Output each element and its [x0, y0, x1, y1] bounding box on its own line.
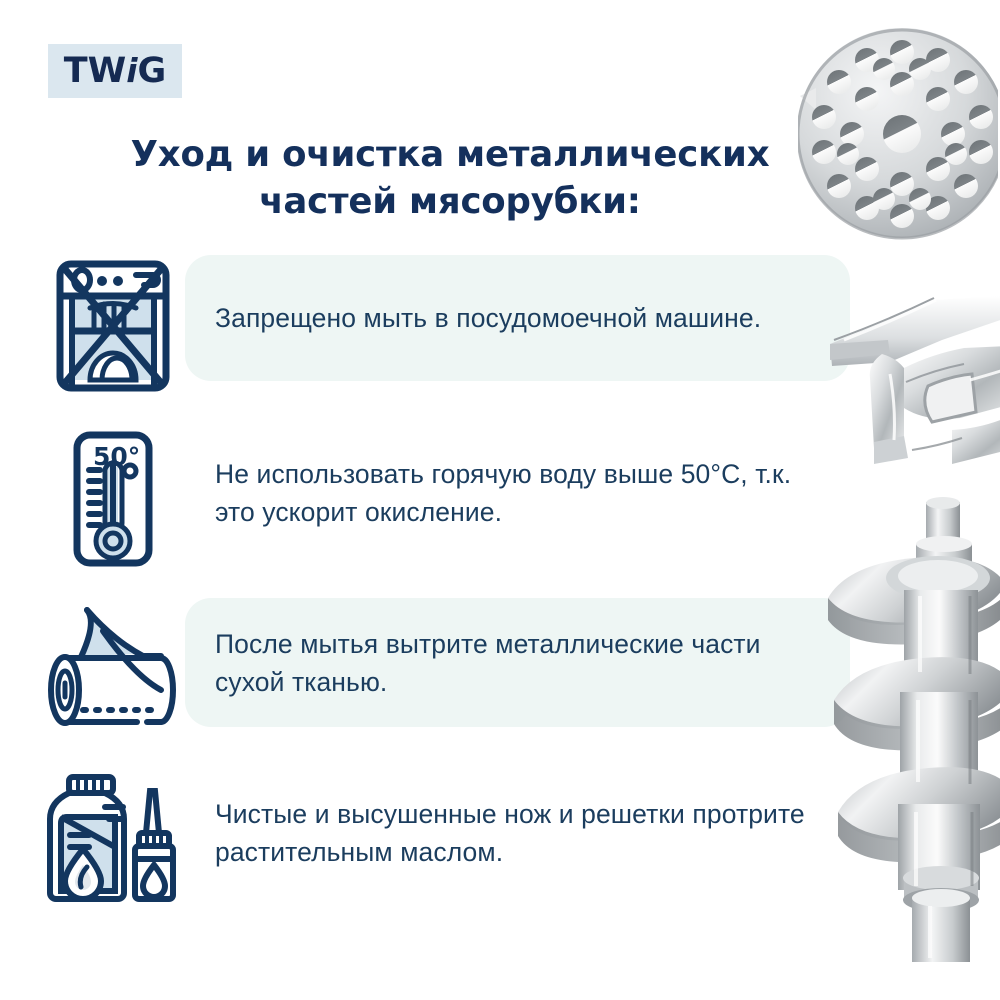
thermometer-50-icon: 50°: [40, 428, 185, 570]
brand-logo-text: TWiG: [64, 54, 167, 89]
list-item-text: Чистые и высушенные нож и решетки протри…: [215, 796, 820, 871]
page-title-line-2: частей мясорубки:: [60, 179, 840, 226]
brand-logo-prefix: TW: [64, 51, 126, 91]
list-item-bubble: Запрещено мыть в посудомоечной машине.: [185, 255, 850, 381]
page-title-line-1: Уход и очистка металлических: [60, 132, 840, 179]
list-item-text: После мытья вытрите металлические части …: [215, 626, 820, 701]
brand-logo: TWiG: [48, 44, 182, 98]
page-title: Уход и очистка металлических частей мясо…: [60, 132, 840, 226]
list-item-text: Запрещено мыть в посудомоечной машине.: [215, 300, 761, 338]
list-item: Запрещено мыть в посудомоечной машине.: [40, 255, 850, 397]
list-item-bubble: После мытья вытрите металлические части …: [185, 598, 850, 727]
brand-logo-middle: i: [126, 51, 137, 90]
list-item-bubble: Не использовать горячую воду выше 50°C, …: [185, 428, 850, 557]
oil-bottles-icon: [40, 768, 185, 910]
list-item: Чистые и высушенные нож и решетки протри…: [40, 768, 850, 910]
list-item: 50°: [40, 428, 850, 570]
infographic-page: TWiG Уход и очистка металлических частей…: [0, 0, 1000, 1000]
dry-cloth-roll-icon: [40, 598, 185, 740]
list-item-bubble: Чистые и высушенные нож и решетки протри…: [185, 768, 850, 897]
list-item: После мытья вытрите металлические части …: [40, 598, 850, 740]
list-item-text: Не использовать горячую воду выше 50°C, …: [215, 456, 820, 531]
brand-logo-suffix: G: [138, 51, 167, 91]
no-dishwasher-icon: [40, 255, 185, 397]
